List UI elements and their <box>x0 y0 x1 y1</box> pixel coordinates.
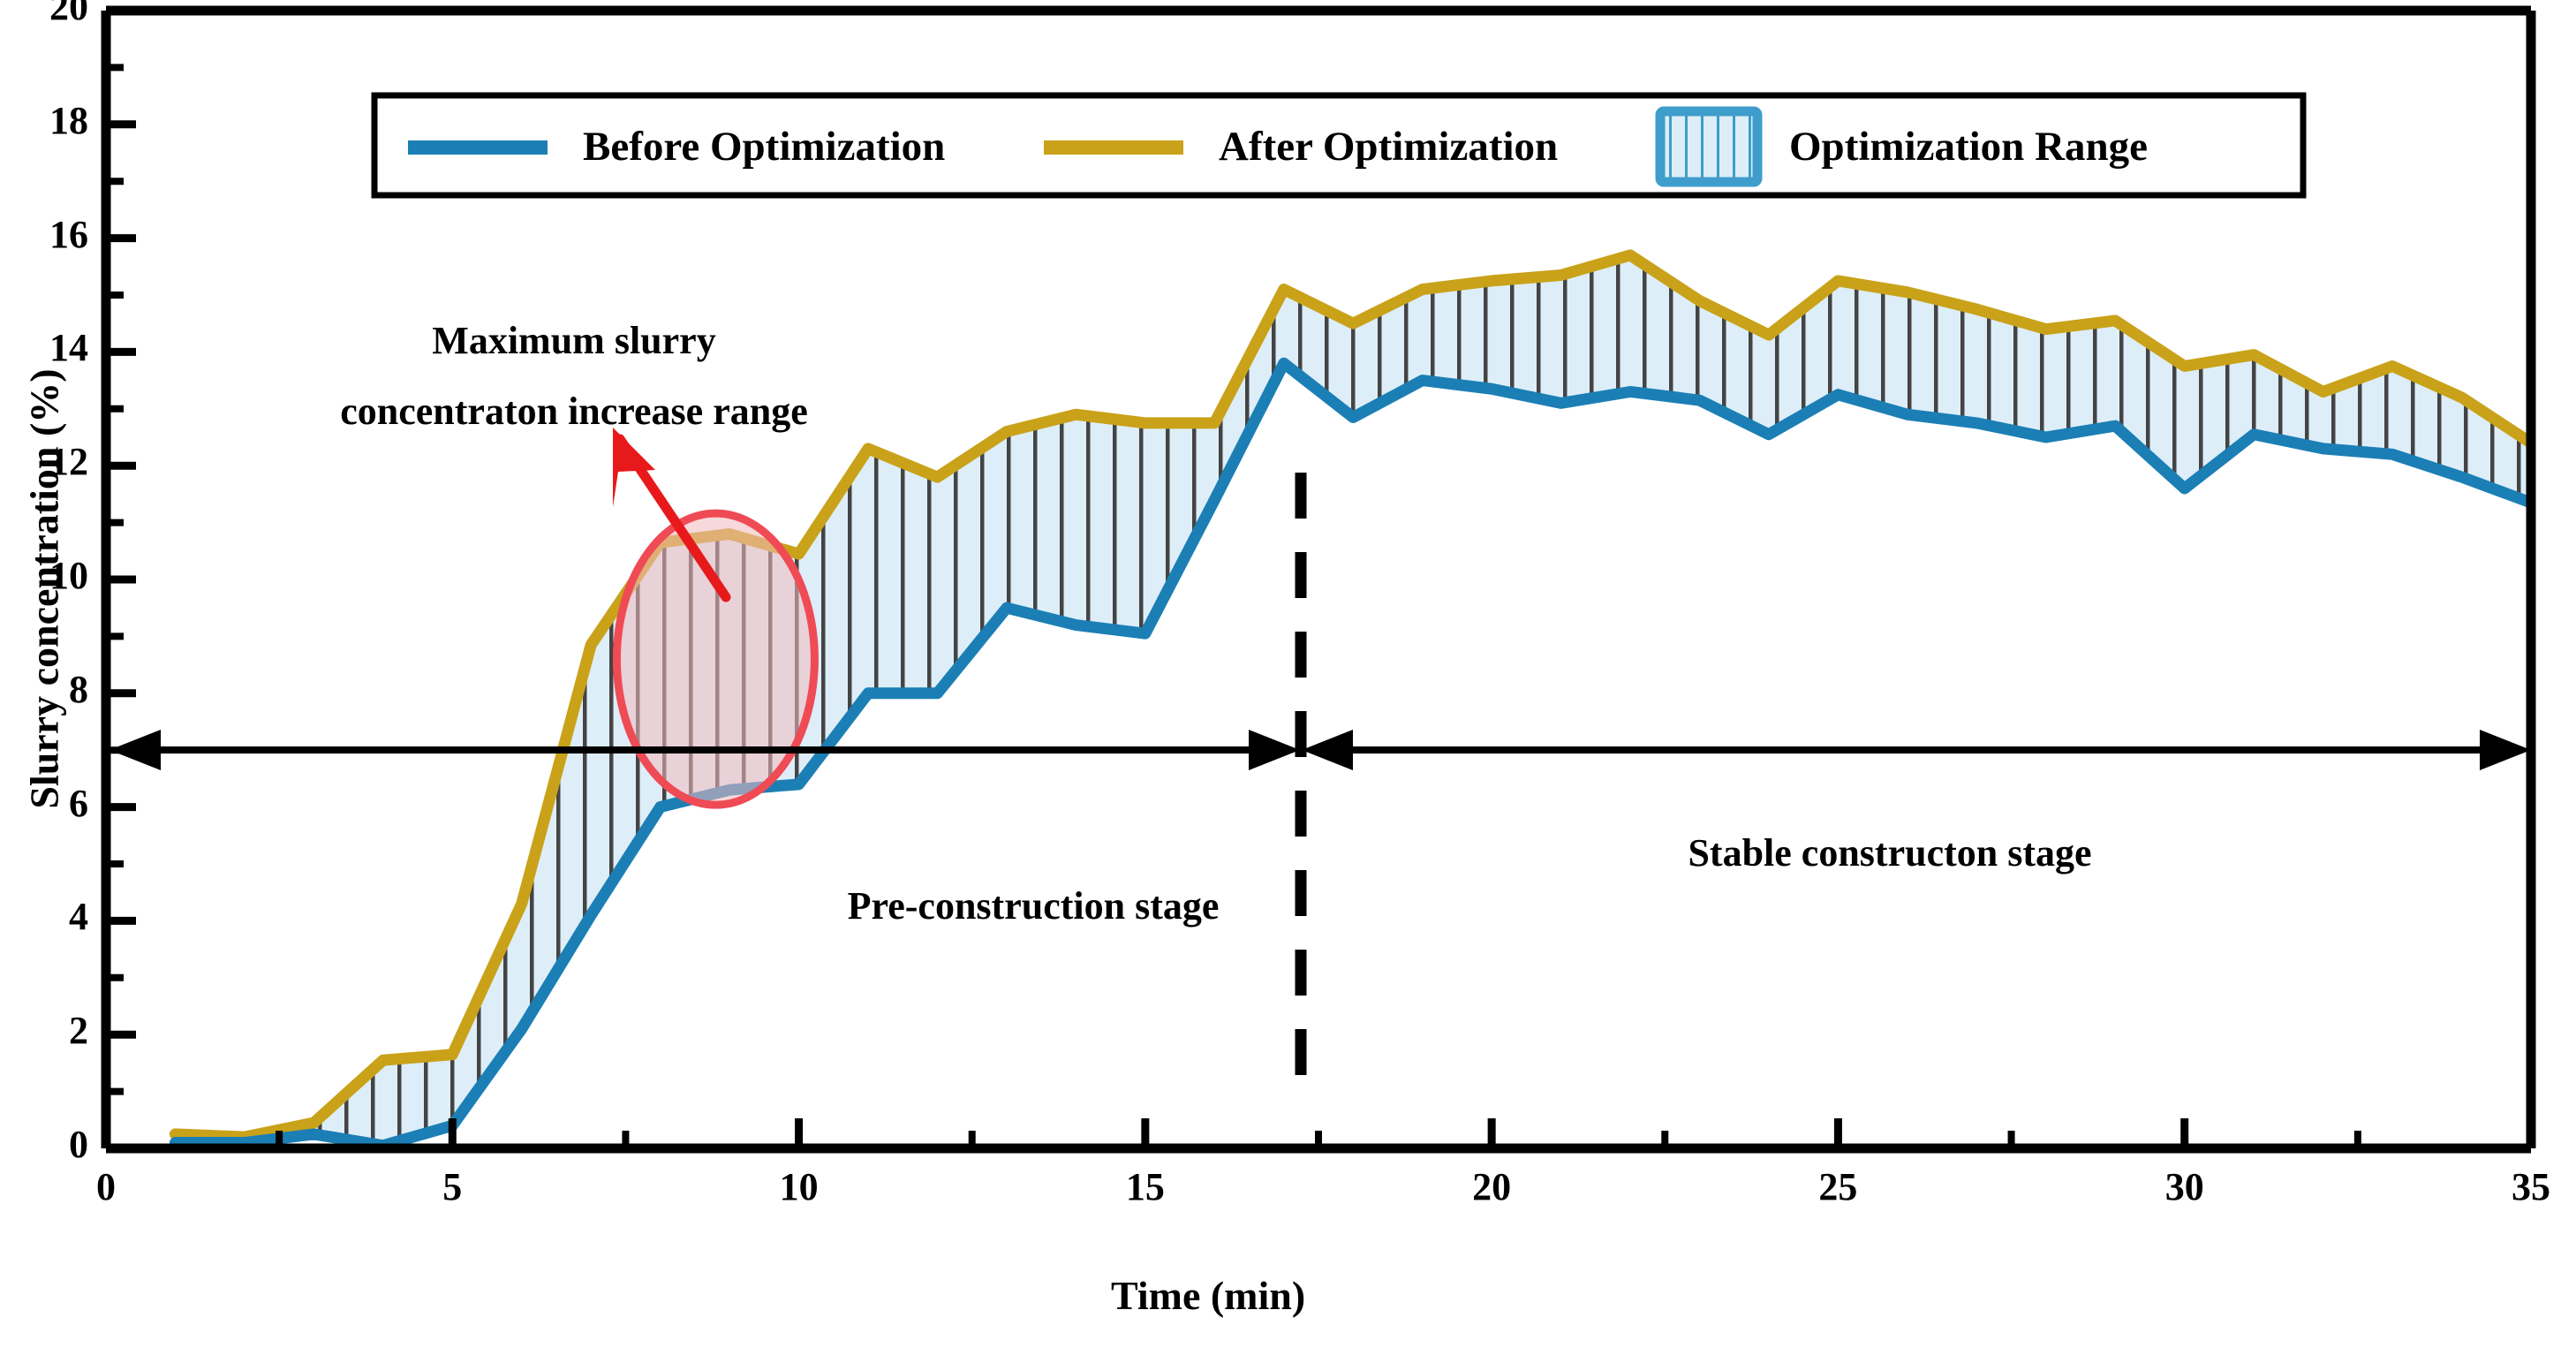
x-tick-label-30: 30 <box>2132 1164 2238 1209</box>
y-tick-label-6: 6 <box>0 781 88 826</box>
y-tick-label-18: 18 <box>0 98 88 143</box>
callout-text-line1: Maximum slurry <box>265 318 883 363</box>
chart-canvas <box>0 0 2576 1348</box>
x-tick-label-0: 0 <box>53 1164 159 1209</box>
x-tick-label-15: 15 <box>1092 1164 1198 1209</box>
x-axis-title: Time (min) <box>1111 1272 1305 1319</box>
y-tick-label-0: 0 <box>0 1122 88 1167</box>
x-tick-label-35: 35 <box>2478 1164 2576 1209</box>
legend-swatch-optimization-range <box>1660 111 1757 182</box>
y-tick-label-8: 8 <box>0 667 88 712</box>
x-tick-label-25: 25 <box>1785 1164 1891 1209</box>
stage-label-stable-construction: Stable constructon stage <box>1598 830 2181 875</box>
y-tick-label-16: 16 <box>0 212 88 257</box>
chart-figure: Slurry concentration (%) Time (min) 0510… <box>0 0 2576 1348</box>
legend-label-before-optimization: Before Optimization <box>583 123 945 170</box>
y-tick-label-14: 14 <box>0 325 88 370</box>
legend-label-optimization-range: Optimization Range <box>1789 123 2148 170</box>
x-tick-label-5: 5 <box>399 1164 505 1209</box>
max-increase-ellipse-group <box>616 513 814 805</box>
y-tick-label-20: 20 <box>0 0 88 29</box>
x-tick-label-20: 20 <box>1439 1164 1545 1209</box>
legend-label-after-optimization: After Optimization <box>1219 123 1558 170</box>
y-tick-label-4: 4 <box>0 894 88 939</box>
y-tick-label-2: 2 <box>0 1008 88 1053</box>
y-tick-label-10: 10 <box>0 553 88 598</box>
y-tick-label-12: 12 <box>0 439 88 484</box>
max-increase-ellipse <box>616 513 814 805</box>
stage-label-pre-construction: Pre-construction stage <box>742 883 1325 928</box>
callout-text-line2: concentraton increase range <box>203 389 945 434</box>
x-tick-label-10: 10 <box>746 1164 852 1209</box>
